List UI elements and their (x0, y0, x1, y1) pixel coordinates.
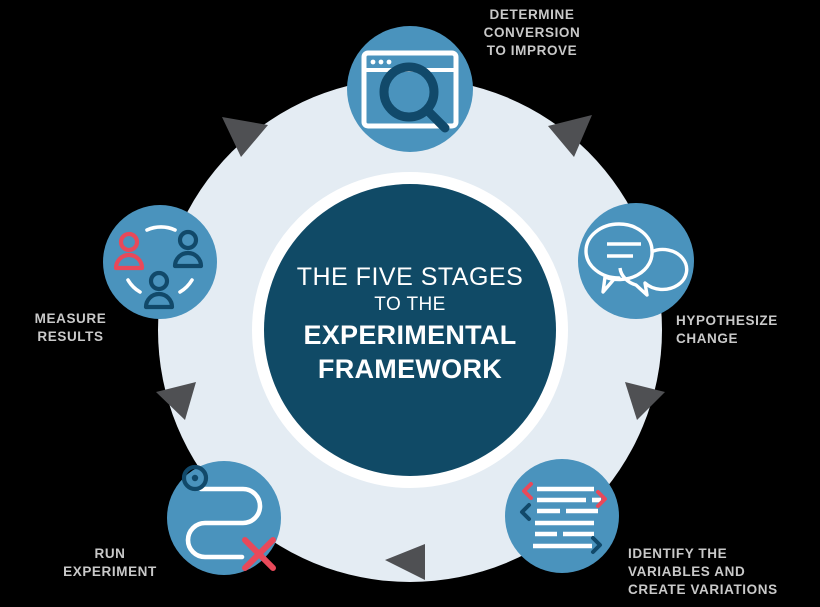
center-title-line-3: EXPERIMENTAL (270, 318, 550, 352)
center-title-line-1: THE FIVE STAGES (270, 262, 550, 292)
center-title-block: THE FIVE STAGES TO THE EXPERIMENTAL FRAM… (270, 262, 550, 386)
stage-icon-hypothesize-change[interactable] (578, 203, 694, 319)
stage-label-run-experiment: RUN EXPERIMENT (30, 545, 190, 581)
center-title-line-4: FRAMEWORK (270, 352, 550, 386)
stage-label-measure-results: MEASURE RESULTS (8, 310, 133, 346)
icon-circle-bg (505, 459, 619, 573)
infographic-canvas: THE FIVE STAGES TO THE EXPERIMENTAL FRAM… (0, 0, 820, 607)
stage-icon-identify-variables[interactable] (505, 459, 619, 573)
stage-label-hypothesize-change: HYPOTHESIZE CHANGE (676, 312, 811, 348)
stage-label-determine-conversion: DETERMINE CONVERSION TO IMPROVE (452, 6, 612, 60)
stage-icon-measure-results[interactable] (103, 205, 217, 319)
center-title-line-2: TO THE (270, 292, 550, 318)
icon-circle-bg (578, 203, 694, 319)
stage-label-identify-variables: IDENTIFY THE VARIABLES AND CREATE VARIAT… (628, 545, 818, 599)
